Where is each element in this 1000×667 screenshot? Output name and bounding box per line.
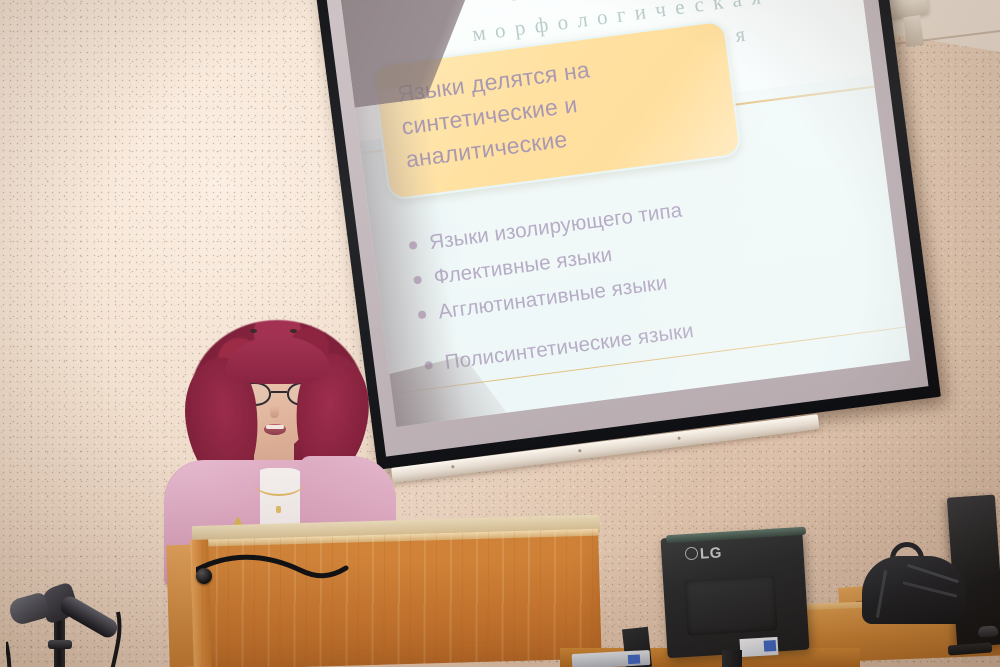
gooseneck-mic-capsule [196,568,212,584]
lg-monitor: LG [664,534,806,654]
eye-left [250,329,257,333]
slide-callout-text: Языки делятся на синтетические и аналити… [395,38,717,176]
rail-screw [451,465,454,468]
computer-mouse[interactable] [978,625,999,637]
rail-screw [677,437,680,440]
stand-microphone[interactable] [6,540,186,667]
necklace-pendant [276,506,281,513]
slide: Современная морфологическая классификаци… [339,0,910,427]
keyboard-partial[interactable] [572,650,651,667]
necklace [254,470,304,496]
keyboard-sticker [628,654,640,664]
classroom-presentation-scene: ScreenMedia Современная морфологическая … [0,0,1000,667]
teeth [266,425,284,429]
screen-projection-surface: Современная морфологическая классификаци… [339,0,910,427]
slide-bullet-list: Языки изолирующего типа Флективные языки… [407,168,887,382]
mouth [264,424,286,435]
monitor-brand-label: LG [700,544,723,562]
monitor-spec-sticker [739,637,778,657]
monitor-stand-neck [722,650,742,667]
sticker-swatch [764,640,777,652]
glasses-bridge [271,391,287,393]
monitor-vesa-plate [684,575,777,635]
nose [270,406,279,418]
rail-screw [578,449,581,452]
mic-cable [6,606,136,667]
gooseneck-microphone[interactable] [196,520,426,600]
eye-right [290,329,297,333]
backpack [862,542,966,624]
